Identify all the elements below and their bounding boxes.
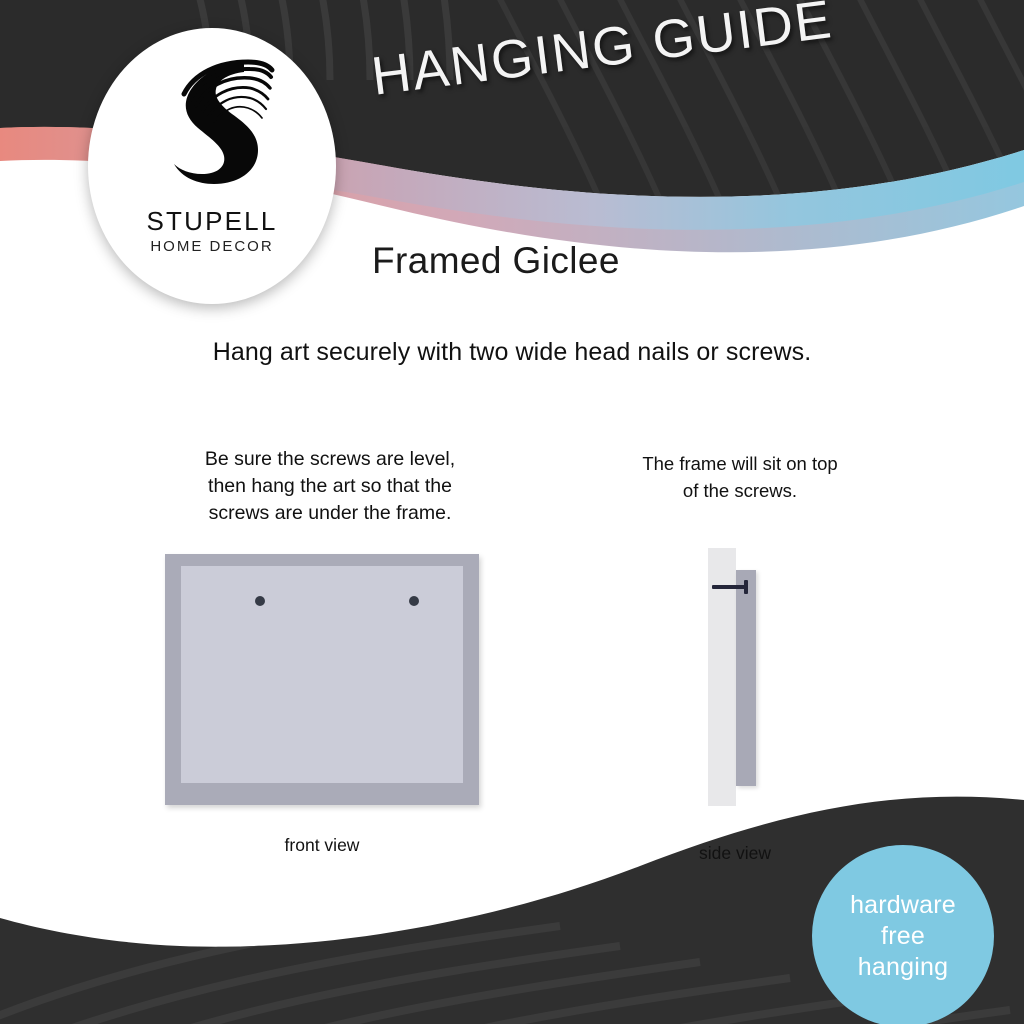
screw-dot-right	[409, 596, 419, 606]
hardware-free-hanging-badge: hardware free hanging	[812, 845, 994, 1024]
side-view-instruction-line-2: of the screws.	[580, 477, 900, 504]
frame-art-panel	[181, 566, 463, 783]
page-title: HANGING GUIDE	[368, 0, 892, 108]
side-view-instructions: The frame will sit on top of the screws.	[580, 450, 900, 504]
front-view-instruction-line-1: Be sure the screws are level,	[150, 446, 510, 473]
stupell-swoosh-icon	[148, 54, 276, 186]
logo-tagline: HOME DECOR	[88, 238, 336, 255]
lead-instruction: Hang art securely with two wide head nai…	[0, 338, 1024, 367]
front-view-instruction-line-2: then hang the art so that the	[150, 473, 510, 500]
side-view-instruction-line-1: The frame will sit on top	[580, 450, 900, 477]
front-view-instruction-line-3: screws are under the frame.	[150, 500, 510, 527]
screw-dot-left	[255, 596, 265, 606]
front-view-instructions: Be sure the screws are level, then hang …	[150, 446, 510, 527]
stupell-logo-badge: STUPELL HOME DECOR	[88, 28, 336, 304]
hanging-guide-page: STUPELL HOME DECOR HANGING GUIDE Framed …	[0, 0, 1024, 1024]
nail-head-icon	[744, 580, 748, 594]
front-view-frame-diagram	[165, 554, 479, 805]
front-view-caption: front view	[165, 835, 479, 856]
page-title-wrapper: HANGING GUIDE	[368, 0, 892, 108]
product-type-subtitle: Framed Giclee	[372, 240, 620, 282]
badge-line-2: free	[881, 921, 925, 952]
badge-line-3: hanging	[858, 952, 948, 983]
nail-shaft-icon	[712, 585, 748, 589]
side-view-frame	[736, 570, 756, 786]
side-view-caption: side view	[660, 843, 810, 864]
badge-line-1: hardware	[850, 890, 956, 921]
logo-wordmark: STUPELL	[88, 206, 336, 237]
